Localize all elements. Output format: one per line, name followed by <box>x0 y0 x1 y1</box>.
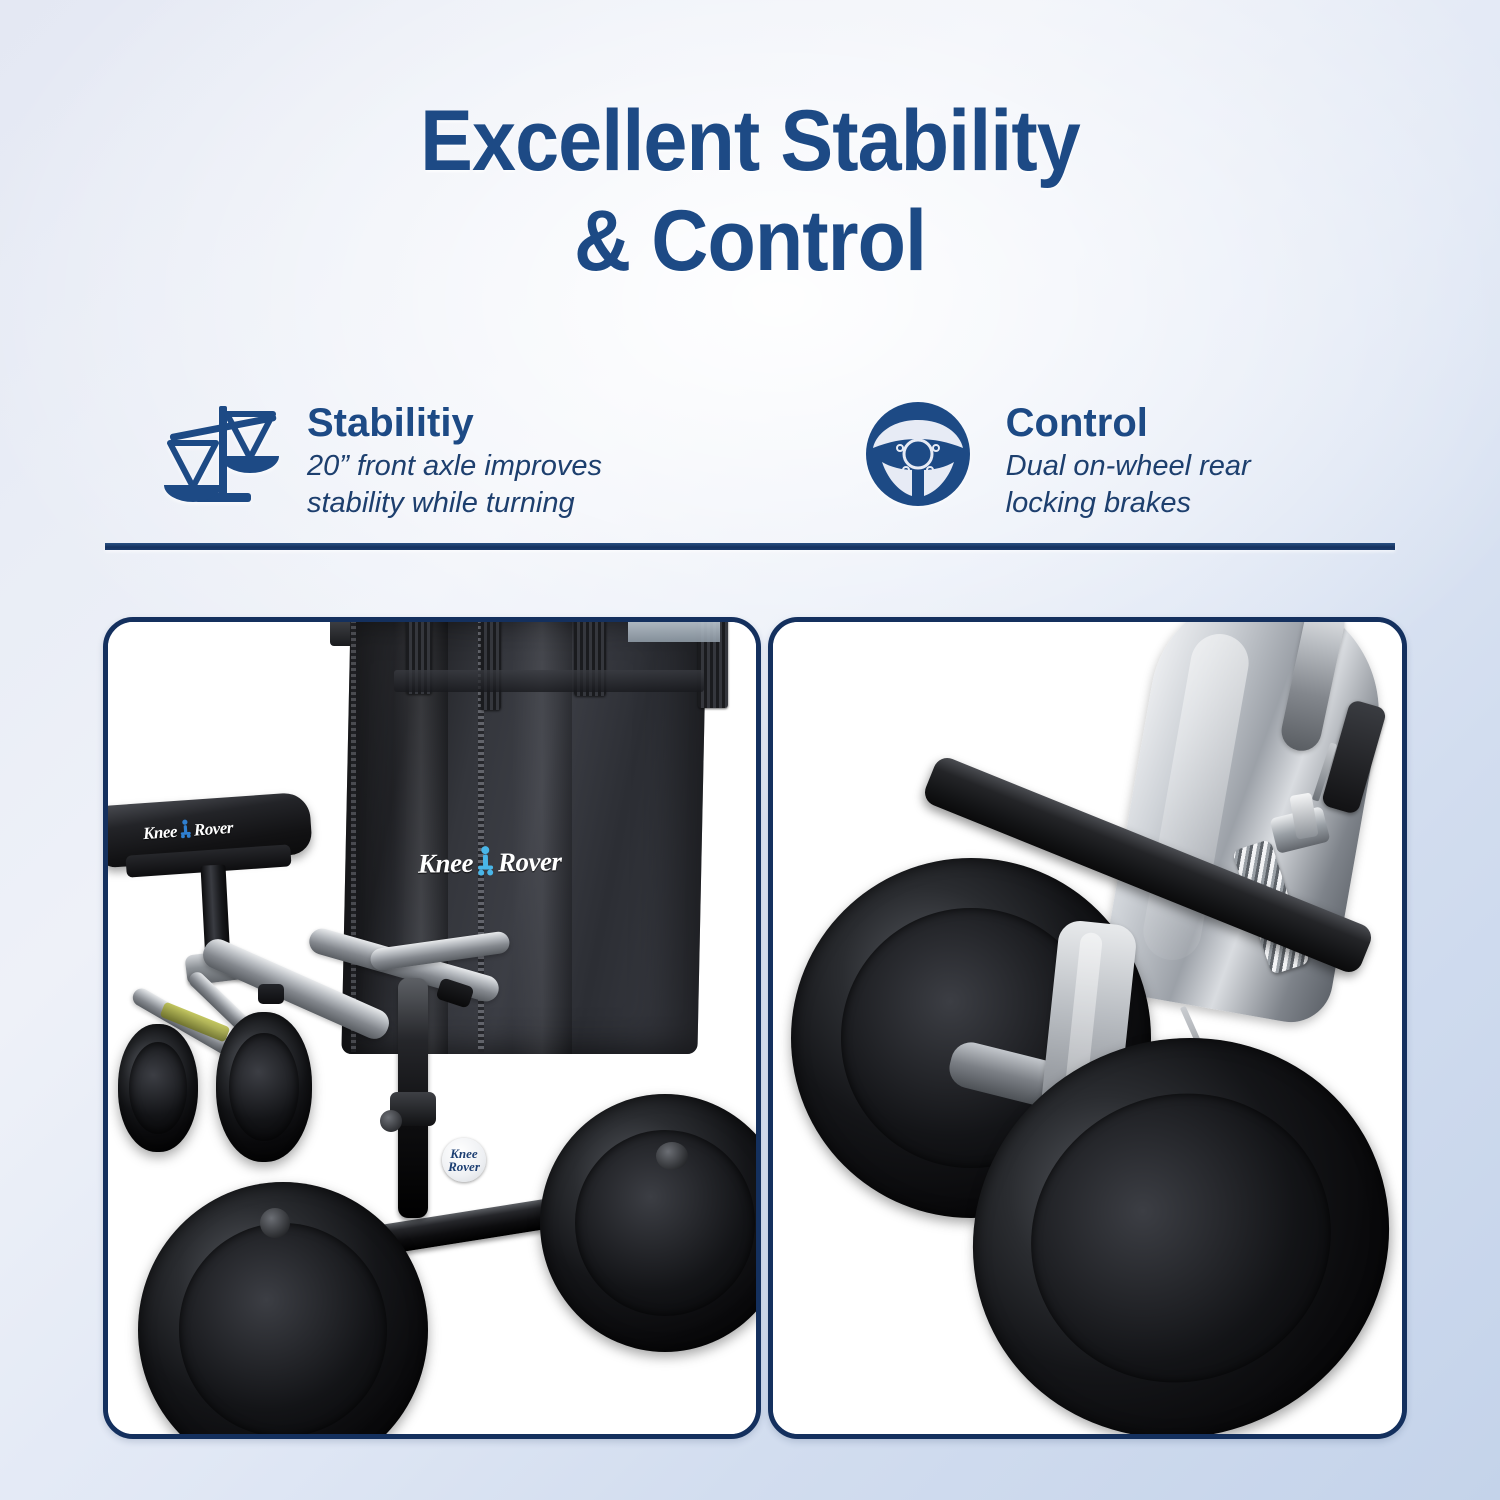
brand-rover-text: Rover <box>193 818 233 841</box>
balance-scale-icon <box>163 398 283 510</box>
axle-end-cap <box>260 1208 290 1238</box>
basket-brand-logo: Knee Rover <box>418 842 619 881</box>
basket-hem <box>394 670 704 692</box>
brand-knee-text: Knee <box>142 822 177 844</box>
brand-rover-text: Rover <box>448 1160 480 1173</box>
feature-control-text: Control Dual on-wheel rear locking brake… <box>1006 398 1306 522</box>
feature-control: Control Dual on-wheel rear locking brake… <box>830 398 1395 522</box>
axle-bolt <box>380 1110 402 1132</box>
steering-wheel-icon <box>862 398 982 510</box>
front-wheel-right <box>540 1094 756 1352</box>
knee-scooter-rear-basket-photo: Knee Rover Knee <box>108 622 756 1434</box>
infographic-page: Excellent Stability & Control <box>0 0 1500 1500</box>
page-title-line-1: Excellent Stability <box>60 92 1440 192</box>
frame-fitting <box>258 984 284 1004</box>
brand-figure-icon <box>477 845 495 880</box>
brand-knee-text: Knee <box>418 847 474 879</box>
rear-caster-wheel <box>216 1012 312 1162</box>
rear-wheel-locking-brake-photo <box>773 622 1402 1434</box>
page-title: Excellent Stability & Control <box>0 92 1500 292</box>
rear-caster-wheel <box>118 1024 198 1152</box>
photo-panel-left: Knee Rover Knee <box>103 617 761 1439</box>
feature-stability-description: 20” front axle improves stability while … <box>307 448 647 522</box>
axle-hub-sticker: Knee Rover <box>442 1138 486 1182</box>
basket-seam <box>351 622 356 1052</box>
brand-figure-icon <box>179 819 192 844</box>
feature-stability-heading: Stabilitiy <box>307 402 647 444</box>
background-gap <box>628 622 720 642</box>
feature-stability-text: Stabilitiy 20” front axle improves stabi… <box>307 398 647 522</box>
axle-end-cap <box>656 1142 688 1170</box>
section-divider <box>105 543 1395 550</box>
basket-strap <box>481 622 501 710</box>
feature-control-description: Dual on-wheel rear locking brakes <box>1006 448 1306 522</box>
page-title-line-2: & Control <box>60 192 1440 292</box>
photo-panel-right <box>768 617 1407 1439</box>
feature-control-heading: Control <box>1006 402 1306 444</box>
brand-rover-text: Rover <box>498 846 562 878</box>
feature-row: Stabilitiy 20” front axle improves stabi… <box>105 398 1395 522</box>
feature-stability: Stabilitiy 20” front axle improves stabi… <box>105 398 830 522</box>
